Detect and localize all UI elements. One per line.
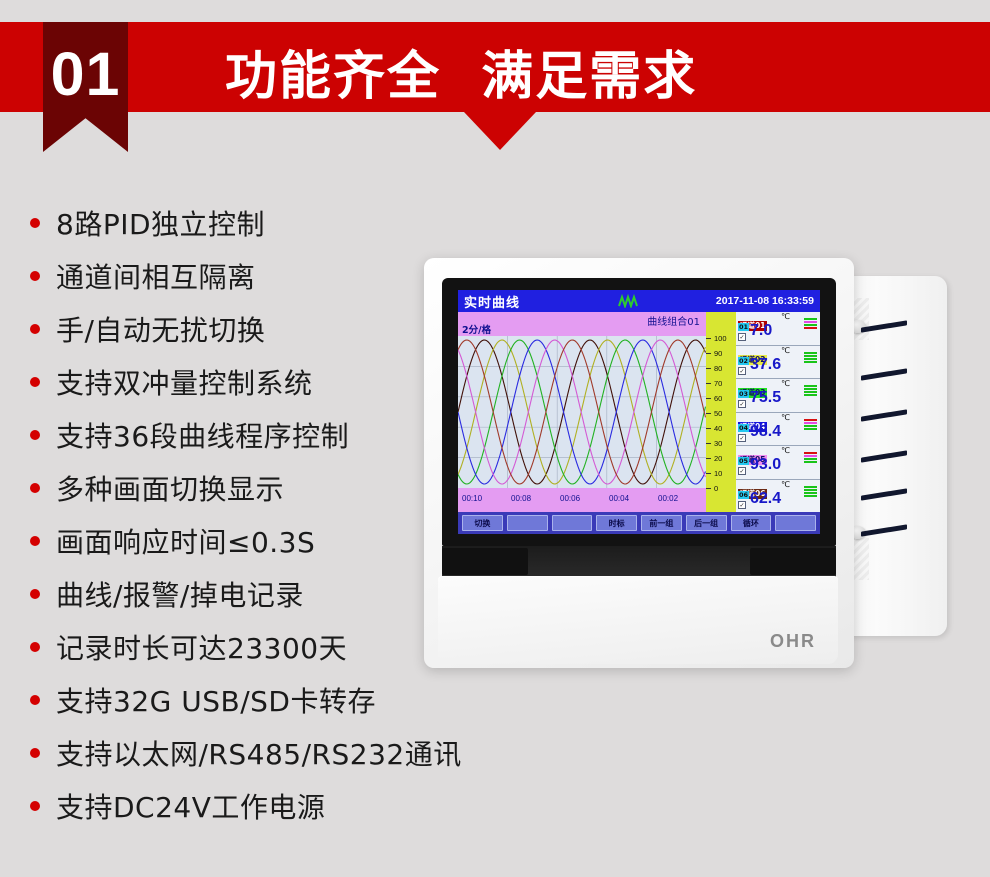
channel-row[interactable]: 通道03 ℃ 03 ✓ 75.5 <box>736 379 820 413</box>
list-item: 支持以太网/RS485/RS232通讯 <box>30 726 460 779</box>
bullet-icon <box>30 589 40 599</box>
feature-label: 记录时长可达23300天 <box>56 627 347 667</box>
softkey-blank-3[interactable] <box>775 515 816 531</box>
list-item: 支持双冲量控制系统 <box>30 355 460 408</box>
softkey-timemark[interactable]: 时标 <box>596 515 637 531</box>
scale-tick-label: 10 <box>707 469 722 478</box>
bullet-icon <box>30 748 40 758</box>
time-tick-label: 00:02 <box>658 494 678 503</box>
scale-tick-label: 100 <box>707 334 727 343</box>
list-item: 支持32G USB/SD卡转存 <box>30 673 460 726</box>
feature-label: 8路PID独立控制 <box>56 203 265 243</box>
list-item: 多种画面切换显示 <box>30 461 460 514</box>
channel-row[interactable]: 通道01 ℃ 01 ✓ 7.0 <box>736 312 820 346</box>
feature-label: 支持32G USB/SD卡转存 <box>56 680 376 720</box>
chart-series-通道01 <box>458 340 706 484</box>
list-item: 画面响应时间≤0.3S <box>30 514 460 567</box>
channel-checkbox[interactable]: ✓ <box>738 333 746 341</box>
bullet-icon <box>30 218 40 228</box>
feature-label: 支持36段曲线程序控制 <box>56 415 349 455</box>
feature-list: 8路PID独立控制 通道间相互隔离 手/自动无扰切换 支持双冲量控制系统 支持3… <box>30 196 460 832</box>
channel-row[interactable]: 通道04 ℃ 04 ✓ 98.4 <box>736 413 820 447</box>
softkey-blank-2[interactable] <box>552 515 593 531</box>
channel-index-badge: 03 <box>738 390 749 398</box>
chart-value-scale: 0102030405060708090100 <box>706 312 736 512</box>
channel-index-badge: 02 <box>738 357 749 365</box>
softkey-next-group[interactable]: 后一组 <box>686 515 727 531</box>
bullet-icon <box>30 801 40 811</box>
channel-row[interactable]: 通道05 ℃ 05 ✓ 93.0 <box>736 446 820 480</box>
channel-bargraph <box>804 452 817 463</box>
time-tick-label: 00:08 <box>511 494 531 503</box>
channel-row[interactable]: 通道06 ℃ 06 ✓ 62.4 <box>736 480 820 513</box>
chart-series-通道04 <box>458 340 706 484</box>
chart-series-通道06 <box>458 340 706 484</box>
channel-value: 62.4 <box>750 490 781 508</box>
device-screen-bezel: 实时曲线 2017-11-08 16:33:59 2分/格 曲线组合01 <box>442 278 836 546</box>
scale-tick-label: 90 <box>707 349 722 358</box>
scale-tick-label: 60 <box>707 394 722 403</box>
softkey-blank-1[interactable] <box>507 515 548 531</box>
channel-value: 37.6 <box>750 356 781 374</box>
list-item: 8路PID独立控制 <box>30 196 460 249</box>
channel-index-badge: 04 <box>738 424 749 432</box>
list-item: 支持36段曲线程序控制 <box>30 408 460 461</box>
channel-checkbox[interactable]: ✓ <box>738 501 746 509</box>
softkey-cycle[interactable]: 循环 <box>731 515 772 531</box>
lcd-display[interactable]: 实时曲线 2017-11-08 16:33:59 2分/格 曲线组合01 <box>458 290 820 534</box>
scale-tick-label: 80 <box>707 364 722 373</box>
softkey-prev-group[interactable]: 前一组 <box>641 515 682 531</box>
device-front-door[interactable]: OHR <box>438 576 838 664</box>
channel-index-badge: 05 <box>738 457 749 465</box>
channel-index-badge: 01 <box>738 323 749 331</box>
header-notch-triangle <box>464 112 536 150</box>
chart-group-label: 曲线组合01 <box>647 313 700 328</box>
scale-tick-label: 20 <box>707 454 722 463</box>
channel-unit: ℃ <box>781 379 790 388</box>
channel-checkbox[interactable]: ✓ <box>738 467 746 475</box>
list-item: 支持DC24V工作电源 <box>30 779 460 832</box>
scale-tick-label: 30 <box>707 439 722 448</box>
device-hinge-tab-right <box>750 548 836 575</box>
channel-checkbox[interactable]: ✓ <box>738 434 746 442</box>
channel-unit: ℃ <box>781 312 790 321</box>
vent-slot <box>861 524 907 536</box>
softkey-bar: 切换 时标 前一组 后一组 循环 <box>458 512 820 534</box>
scale-tick-label: 50 <box>707 409 722 418</box>
feature-label: 支持以太网/RS485/RS232通讯 <box>56 733 462 773</box>
vent-slot <box>861 488 907 500</box>
scale-tick-label: 0 <box>707 484 718 493</box>
feature-label: 画面响应时间≤0.3S <box>56 521 315 561</box>
vent-slot <box>861 409 907 421</box>
trend-chart-region[interactable]: 2分/格 曲线组合01 00:1000:0800:0600:0400:02 <box>458 312 706 512</box>
list-item: 通道间相互隔离 <box>30 249 460 302</box>
channel-checkbox[interactable]: ✓ <box>738 367 746 375</box>
lcd-body: 2分/格 曲线组合01 00:1000:0800:0600:0400:02 01… <box>458 312 820 512</box>
channel-unit: ℃ <box>781 413 790 422</box>
chart-series-通道05 <box>458 340 706 484</box>
time-tick-label: 00:04 <box>609 494 629 503</box>
channel-readout-panel: 通道01 ℃ 01 ✓ 7.0 通道02 ℃ 02 ✓ 37.6 <box>736 312 820 512</box>
lcd-screen-title: 实时曲线 <box>464 292 520 311</box>
channel-unit: ℃ <box>781 480 790 489</box>
channel-value: 93.0 <box>750 456 781 474</box>
section-number-ribbon: 01 <box>43 22 128 152</box>
paperless-recorder-device: 实时曲线 2017-11-08 16:33:59 2分/格 曲线组合01 <box>424 258 884 668</box>
time-tick-label: 00:06 <box>560 494 580 503</box>
channel-bargraph <box>804 352 817 363</box>
brand-logo: OHR <box>770 631 816 652</box>
ohr-wave-logo-icon <box>618 294 638 308</box>
lcd-datetime: 2017-11-08 16:33:59 <box>716 295 814 307</box>
channel-bargraph <box>804 419 817 430</box>
channel-unit: ℃ <box>781 346 790 355</box>
vent-slot <box>861 450 907 462</box>
feature-label: 支持双冲量控制系统 <box>56 362 313 402</box>
chart-series-通道02 <box>458 340 706 484</box>
feature-label: 曲线/报警/掉电记录 <box>56 574 304 614</box>
channel-row[interactable]: 通道02 ℃ 02 ✓ 37.6 <box>736 346 820 380</box>
bullet-icon <box>30 324 40 334</box>
chart-time-axis: 00:1000:0800:0600:0400:02 <box>458 488 706 512</box>
channel-bargraph <box>804 385 817 396</box>
bullet-icon <box>30 377 40 387</box>
device-side-chassis <box>839 276 947 636</box>
scale-tick-label: 70 <box>707 379 722 388</box>
device-front-bezel: 实时曲线 2017-11-08 16:33:59 2分/格 曲线组合01 <box>424 258 854 668</box>
bullet-icon <box>30 430 40 440</box>
scale-tick-label: 40 <box>707 424 722 433</box>
channel-value: 7.0 <box>750 322 772 340</box>
section-number: 01 <box>51 44 121 105</box>
softkey-switch[interactable]: 切换 <box>462 515 503 531</box>
bullet-icon <box>30 271 40 281</box>
device-hinge-tab-left <box>442 548 528 575</box>
chart-rate-label: 2分/格 <box>462 322 491 336</box>
vent-slot <box>861 368 907 380</box>
device-lower-strip <box>442 546 836 578</box>
bullet-icon <box>30 536 40 546</box>
time-tick-label: 00:10 <box>462 494 482 503</box>
feature-label: 通道间相互隔离 <box>56 256 256 296</box>
channel-index-badge: 06 <box>738 491 749 499</box>
list-item: 曲线/报警/掉电记录 <box>30 567 460 620</box>
list-item: 记录时长可达23300天 <box>30 620 460 673</box>
feature-label: 多种画面切换显示 <box>56 468 284 508</box>
lcd-titlebar: 实时曲线 2017-11-08 16:33:59 <box>458 290 820 312</box>
page-title: 功能齐全 满足需求 <box>225 34 697 109</box>
chart-series-通道03 <box>458 340 706 484</box>
list-item: 手/自动无扰切换 <box>30 302 460 355</box>
feature-label: 手/自动无扰切换 <box>56 309 265 349</box>
channel-checkbox[interactable]: ✓ <box>738 400 746 408</box>
channel-bargraph <box>804 486 817 497</box>
channel-unit: ℃ <box>781 446 790 455</box>
channel-bargraph <box>804 318 817 329</box>
bullet-icon <box>30 695 40 705</box>
feature-label: 支持DC24V工作电源 <box>56 786 325 826</box>
bullet-icon <box>30 483 40 493</box>
channel-value: 98.4 <box>750 423 781 441</box>
channel-value: 75.5 <box>750 389 781 407</box>
chart-header-bar: 2分/格 曲线组合01 <box>458 312 706 336</box>
chart-curves-svg <box>458 336 706 488</box>
chart-plot-area <box>458 336 706 488</box>
bullet-icon <box>30 642 40 652</box>
